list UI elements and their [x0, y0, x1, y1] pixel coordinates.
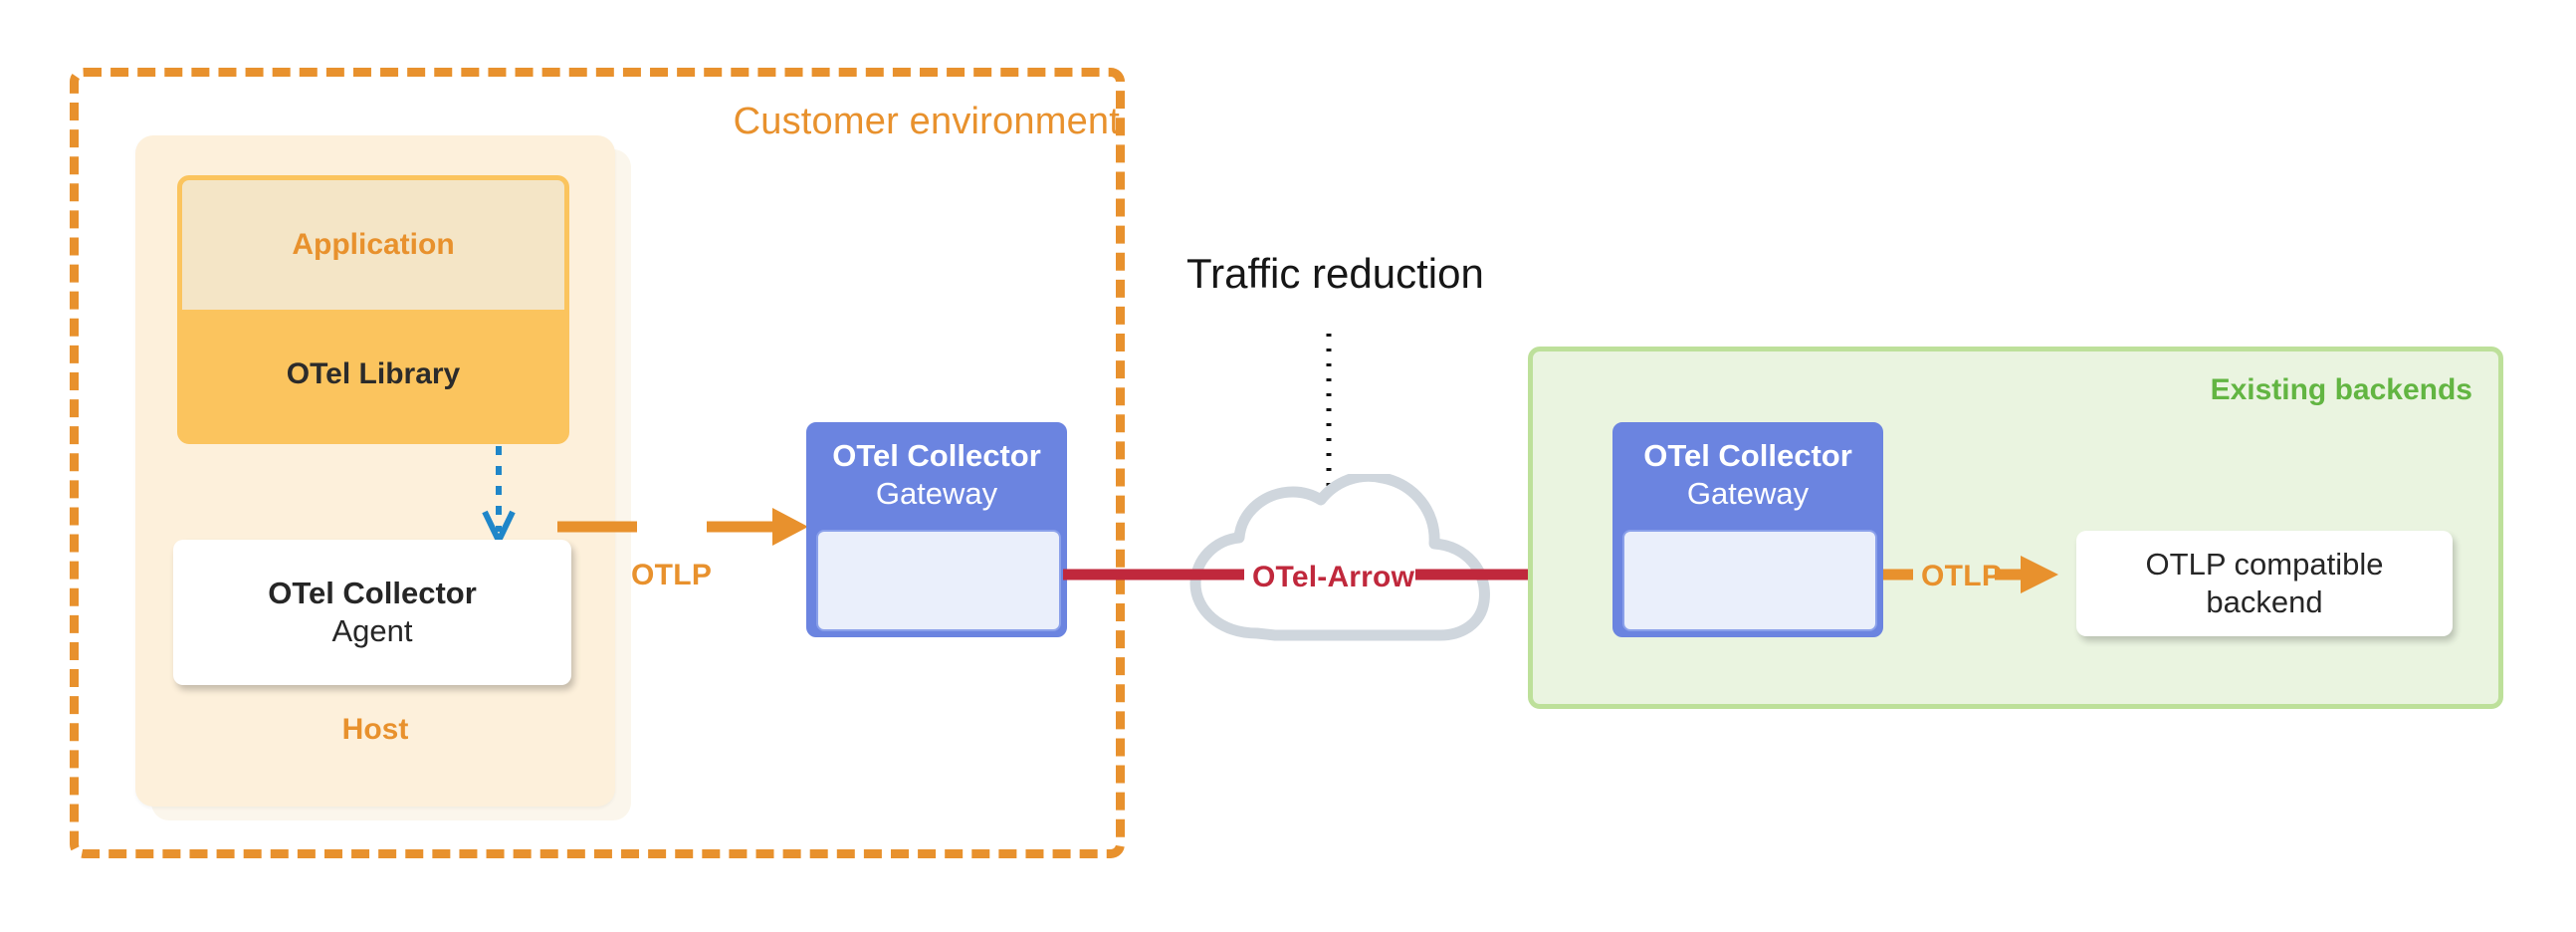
gateway-customer-inner-panel: [816, 530, 1061, 631]
gateway-customer-title: OTel Collector: [808, 438, 1065, 474]
otlp-label-left: OTLP: [631, 559, 712, 592]
otel-arrow-label: OTel-Arrow: [1252, 561, 1414, 594]
application-label: Application: [292, 228, 454, 262]
gateway-backend-subtitle: Gateway: [1614, 476, 1881, 512]
library-to-agent-arrow-icon: [479, 446, 519, 546]
otel-collector-gateway-customer-node[interactable]: OTel Collector Gateway: [806, 422, 1067, 637]
otel-library-label: OTel Library: [287, 357, 461, 391]
agent-to-gateway-otlp-arrow-icon: [557, 496, 816, 558]
gateway-backend-title: OTel Collector: [1614, 438, 1881, 474]
host-group: Application OTel Library OTel Collector …: [135, 135, 615, 807]
otlp-compatible-backend-line2: backend: [2206, 583, 2322, 621]
otlp-compatible-backend-line1: OTLP compatible: [2146, 546, 2384, 583]
otel-library-box: OTel Library: [182, 310, 564, 439]
existing-backends-label: Existing backends: [2211, 373, 2472, 407]
diagram-canvas: Customer environment Application OTel Li…: [0, 0, 2576, 932]
otel-collector-agent-node[interactable]: OTel Collector Agent: [173, 540, 571, 685]
host-label: Host: [135, 713, 615, 747]
otel-collector-gateway-backend-node[interactable]: OTel Collector Gateway: [1612, 422, 1883, 637]
gateway-backend-inner-panel: [1622, 530, 1877, 631]
otel-collector-agent-subtitle: Agent: [331, 612, 412, 650]
application-stack-card: Application OTel Library: [177, 175, 569, 444]
otlp-label-right: OTLP: [1921, 560, 2002, 593]
application-box: Application: [182, 180, 564, 310]
gateway-customer-subtitle: Gateway: [808, 476, 1065, 512]
otlp-compatible-backend-node[interactable]: OTLP compatible backend: [2076, 531, 2453, 636]
otel-collector-agent-title: OTel Collector: [268, 575, 477, 612]
traffic-reduction-label: Traffic reduction: [1186, 250, 1484, 298]
